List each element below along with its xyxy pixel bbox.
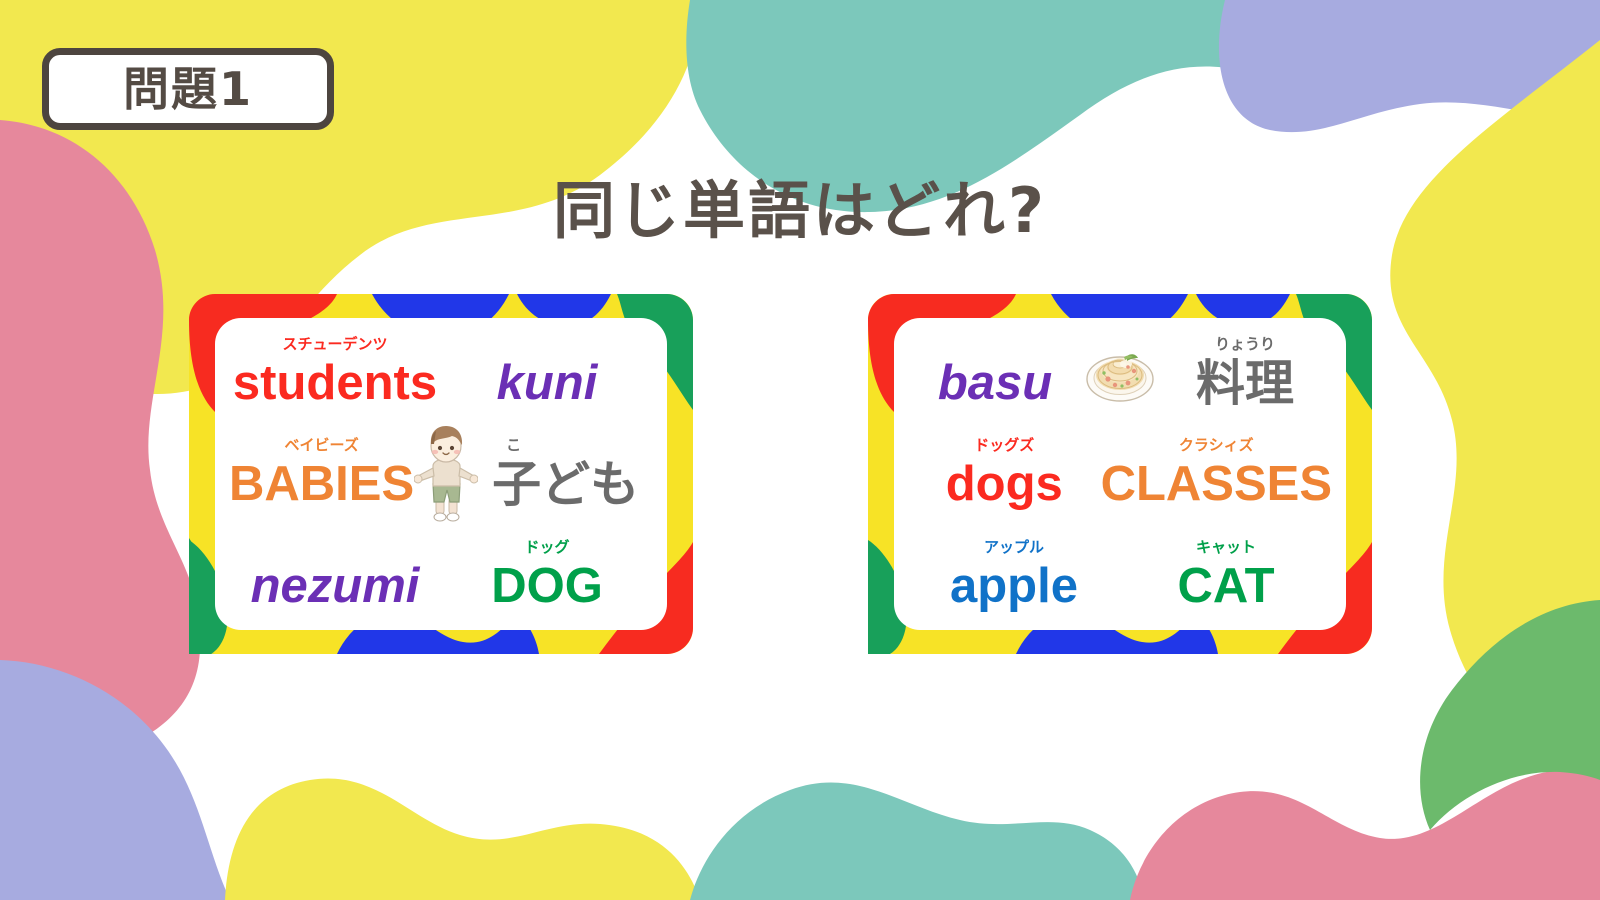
- word-text: 子ども: [492, 460, 639, 509]
- card-row: basu: [908, 322, 1332, 423]
- word-cards-container: スチューデンツ students kuni ベイビーズ: [0, 292, 1600, 660]
- word-ruby: キャット: [1196, 540, 1256, 557]
- word-students[interactable]: スチューデンツ students: [233, 337, 437, 408]
- card-inner-right: basu: [894, 318, 1346, 630]
- question-badge: 問題1: [42, 48, 334, 130]
- card-row: ドッグズ dogs クラシィズ CLASSES: [908, 423, 1332, 524]
- card-row: ベイビーズ BABIES: [229, 423, 653, 524]
- card-row: スチューデンツ students kuni: [229, 322, 653, 423]
- word-basu[interactable]: basu: [938, 337, 1052, 408]
- word-text: kuni: [497, 359, 598, 408]
- word-nezumi[interactable]: nezumi: [251, 540, 420, 611]
- word-ruby: アップル: [984, 540, 1044, 557]
- word-ryouri[interactable]: りょうり 料理: [1196, 337, 1294, 408]
- word-text: nezumi: [251, 562, 420, 611]
- page-title: 同じ単語はどれ?: [0, 160, 1600, 250]
- word-ruby: クラシィズ: [1179, 438, 1254, 455]
- boy-illustration: [414, 424, 478, 524]
- word-cat[interactable]: キャット CAT: [1177, 540, 1274, 611]
- word-slot[interactable]: ドッグ DOG: [441, 540, 653, 611]
- word-dogs[interactable]: ドッグズ dogs: [946, 438, 1063, 509]
- word-text: apple: [950, 562, 1078, 611]
- word-text: BABIES: [229, 460, 414, 509]
- card-row: アップル apple キャット CAT: [908, 525, 1332, 626]
- word-slot[interactable]: ベイビーズ BABIES: [229, 438, 414, 509]
- word-classes[interactable]: クラシィズ CLASSES: [1101, 438, 1332, 509]
- slide-canvas: 問題1 同じ単語はどれ? スチューデンツ: [0, 0, 1600, 900]
- word-ruby: ドッグ: [524, 540, 569, 557]
- word-slot[interactable]: りょうり 料理: [1158, 337, 1332, 408]
- word-kuni[interactable]: kuni: [497, 337, 598, 408]
- word-card-left[interactable]: スチューデンツ students kuni ベイビーズ: [187, 292, 695, 656]
- word-ruby: ベイビーズ: [284, 438, 358, 455]
- question-badge-label: 問題1: [123, 66, 253, 112]
- card-inner-left: スチューデンツ students kuni ベイビーズ: [215, 318, 667, 630]
- word-slot[interactable]: キャット CAT: [1120, 540, 1332, 611]
- word-ruby: ドッグズ: [974, 438, 1034, 455]
- word-slot[interactable]: スチューデンツ students: [229, 337, 441, 408]
- word-slot[interactable]: アップル apple: [908, 540, 1120, 611]
- word-apple[interactable]: アップル apple: [950, 540, 1078, 611]
- word-slot[interactable]: こ 子ども: [478, 438, 653, 509]
- word-slot[interactable]: basu: [908, 337, 1082, 408]
- word-slot[interactable]: クラシィズ CLASSES: [1101, 438, 1332, 509]
- word-text: basu: [938, 359, 1052, 408]
- word-ruby: こ: [506, 438, 521, 455]
- card-row: nezumi ドッグ DOG: [229, 525, 653, 626]
- word-ruby: スチューデンツ: [282, 337, 387, 354]
- word-slot[interactable]: ドッグズ dogs: [908, 438, 1101, 509]
- word-slot[interactable]: nezumi: [229, 540, 441, 611]
- illustration-slot: [1082, 335, 1158, 411]
- word-text: dogs: [946, 460, 1063, 509]
- word-kodomo[interactable]: こ 子ども: [492, 438, 639, 509]
- word-ruby: りょうり: [1215, 337, 1275, 354]
- illustration-slot: [414, 424, 478, 524]
- word-text: students: [233, 359, 437, 408]
- word-dog[interactable]: ドッグ DOG: [491, 540, 603, 611]
- word-babies[interactable]: ベイビーズ BABIES: [229, 438, 414, 509]
- word-text: CAT: [1177, 562, 1274, 611]
- word-text: DOG: [491, 562, 603, 611]
- word-text: CLASSES: [1101, 460, 1332, 509]
- word-slot[interactable]: kuni: [441, 337, 653, 408]
- word-text: 料理: [1196, 359, 1294, 408]
- word-card-right[interactable]: basu: [866, 292, 1374, 656]
- pasta-plate-illustration: [1082, 335, 1158, 411]
